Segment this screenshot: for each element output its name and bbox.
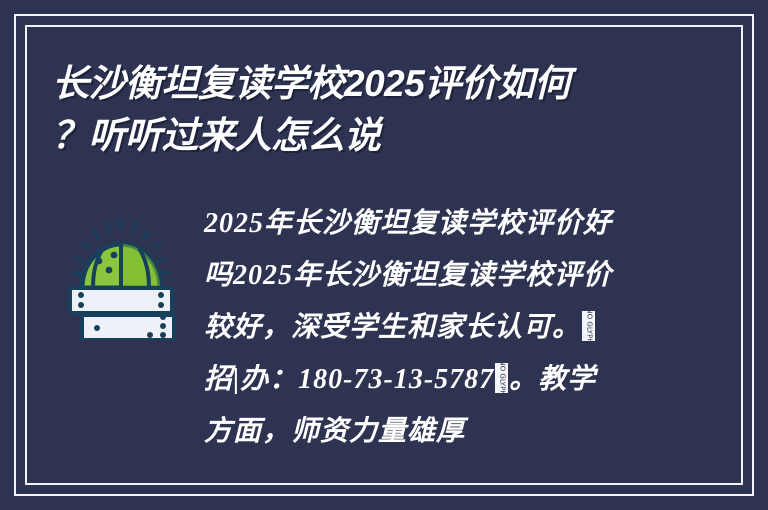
body-line-1: 2025年长沙衡坦复读学校评价好: [204, 198, 722, 250]
body-line-4-contact: 招|办：180-73-13-5787: [204, 364, 494, 395]
body-line-4-tail: 。教学: [509, 364, 596, 395]
cactus-server-illustration: [46, 198, 196, 340]
body-line-3: 较好，深受学生和家长认可。: [204, 302, 722, 354]
poster-canvas: 长沙衡坦复读学校2025评价如何 ？听听过来人怎么说: [0, 0, 768, 510]
body-line-2: 吗2025年长沙衡坦复读学校评价: [204, 250, 722, 302]
page-title: 长沙衡坦复读学校2025评价如何 ？听听过来人怎么说: [52, 58, 712, 162]
cactus-server-icon: [62, 212, 180, 340]
missing-glyph-box: [582, 311, 595, 341]
page-title-line-2: ？听听过来人怎么说: [52, 110, 712, 162]
body-line-3-text: 较好，深受学生和家长认可。: [204, 312, 581, 343]
missing-glyph-box: [495, 363, 508, 393]
body-line-5: 方面，师资力量雄厚: [204, 406, 722, 458]
page-title-line-1: 长沙衡坦复读学校2025评价如何: [52, 58, 712, 110]
server-unit-top: [70, 288, 172, 313]
body-line-4: 招|办：180-73-13-5787。教学: [204, 354, 722, 406]
body-text: 2025年长沙衡坦复读学校评价好 吗2025年长沙衡坦复读学校评价 较好，深受学…: [196, 198, 722, 458]
content-row: 2025年长沙衡坦复读学校评价好 吗2025年长沙衡坦复读学校评价 较好，深受学…: [46, 198, 722, 464]
